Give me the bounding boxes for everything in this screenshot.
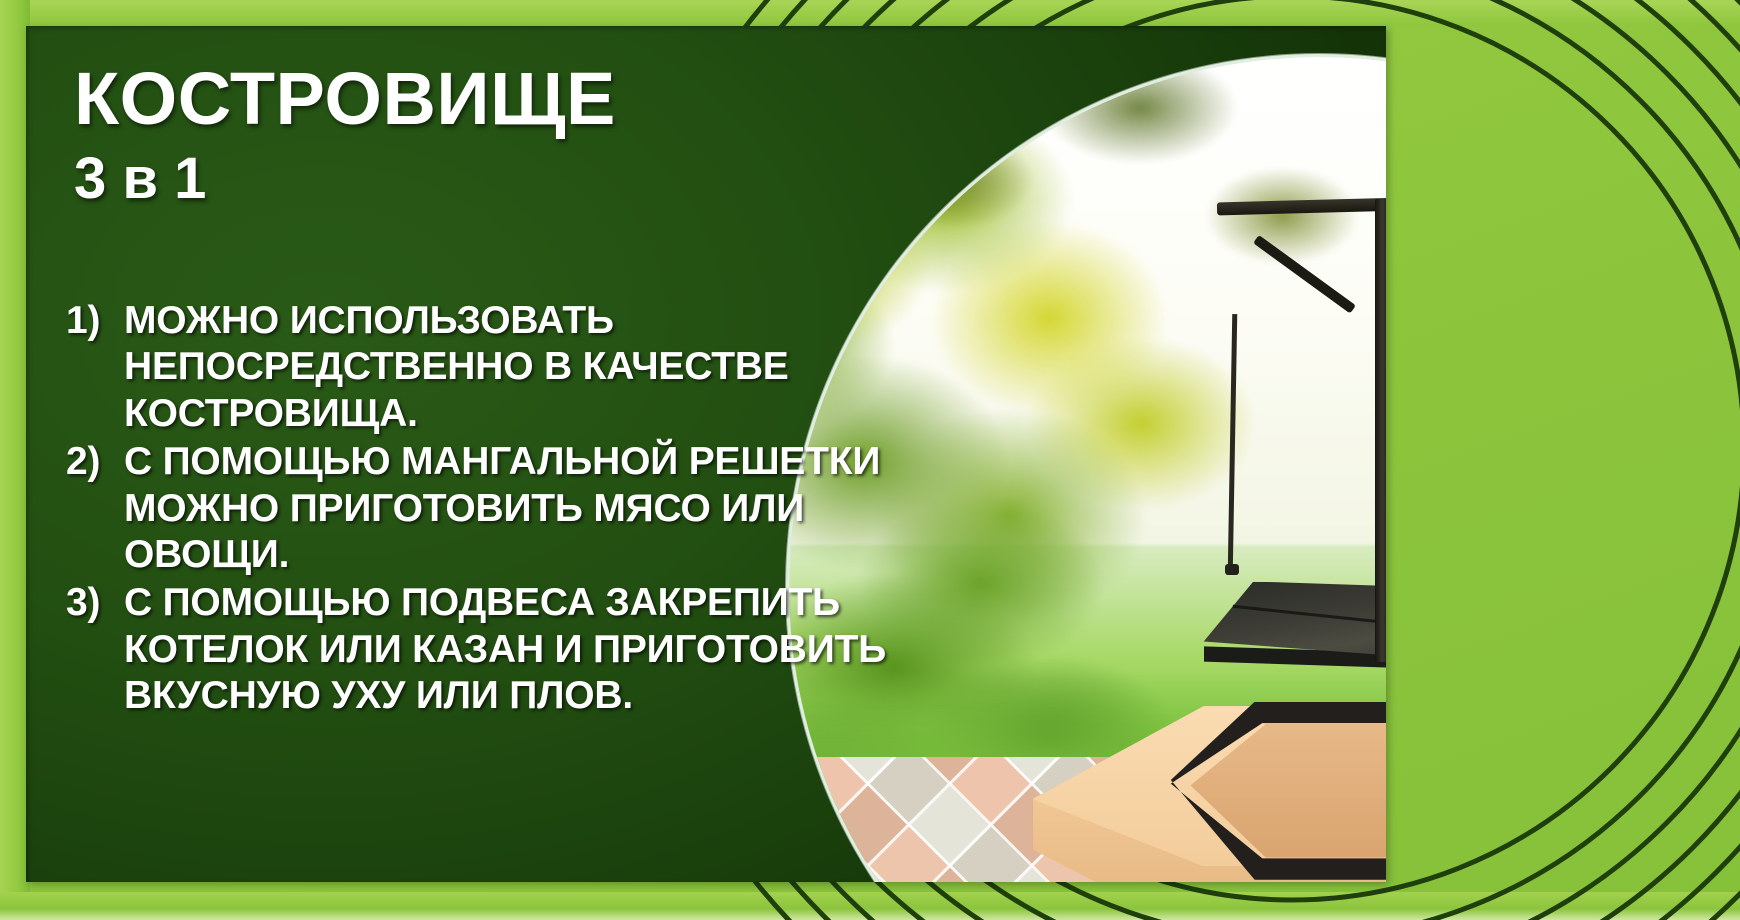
list-item: 2) С ПОМОЩЬЮ МАНГАЛЬНОЙ РЕШЕТКИ МОЖНО ПР… <box>66 439 966 578</box>
usage-list: 1) МОЖНО ИСПОЛЬЗОВАТЬ НЕПОСРЕДСТВЕННО В … <box>66 298 966 722</box>
content-panel: КОСТРОВИЩЕ 3 в 1 1) МОЖНО ИСПОЛЬЗОВАТЬ Н… <box>26 26 1386 882</box>
page-title: КОСТРОВИЩЕ <box>74 62 854 136</box>
frame-top-strip <box>0 0 1740 26</box>
list-item: 3) С ПОМОЩЬЮ ПОДВЕСА ЗАКРЕПИТЬ КОТЕЛОК И… <box>66 580 966 719</box>
poster-canvas: КОСТРОВИЩЕ 3 в 1 1) МОЖНО ИСПОЛЬЗОВАТЬ Н… <box>0 0 1740 920</box>
fire-pit-assembly <box>1033 608 1386 882</box>
list-item-text: С ПОМОЩЬЮ МАНГАЛЬНОЙ РЕШЕТКИ МОЖНО ПРИГО… <box>124 439 966 578</box>
list-item-text: МОЖНО ИСПОЛЬЗОВАТЬ НЕПОСРЕДСТВЕННО В КАЧ… <box>124 298 966 437</box>
pendant-tip <box>1225 564 1239 575</box>
grill-table <box>1204 582 1386 698</box>
list-item-number: 2) <box>66 439 124 485</box>
list-item-number: 3) <box>66 580 124 626</box>
title-block: КОСТРОВИЩЕ 3 в 1 <box>74 62 854 213</box>
list-item-number: 1) <box>66 298 124 344</box>
page-subtitle: 3 в 1 <box>74 146 854 213</box>
list-item: 1) МОЖНО ИСПОЛЬЗОВАТЬ НЕПОСРЕДСТВЕННО В … <box>66 298 966 437</box>
list-item-text: С ПОМОЩЬЮ ПОДВЕСА ЗАКРЕПИТЬ КОТЕЛОК ИЛИ … <box>124 580 966 719</box>
frame-bottom-strip <box>0 892 1740 920</box>
hanging-arm-post <box>1375 199 1386 662</box>
